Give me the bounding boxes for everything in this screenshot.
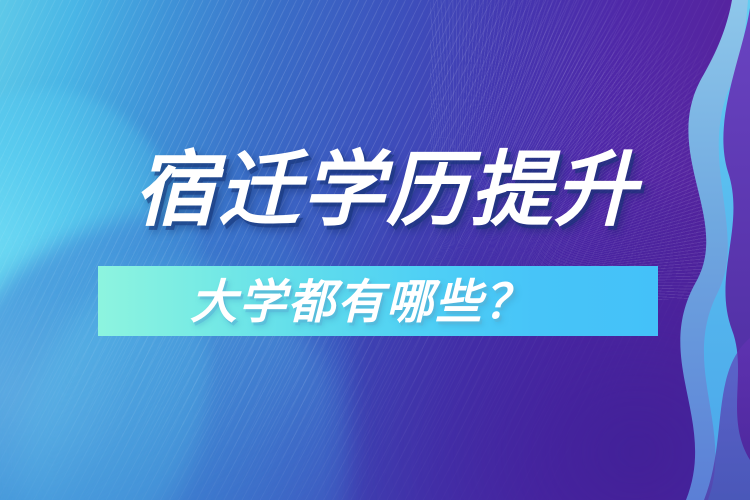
banner-content: 宿迁学历提升 大学都有哪些？: [0, 0, 750, 500]
banner-subtitle: 大学都有哪些？: [190, 277, 533, 327]
promo-banner: 宿迁学历提升 大学都有哪些？: [0, 0, 750, 500]
banner-headline: 宿迁学历提升: [134, 150, 638, 232]
